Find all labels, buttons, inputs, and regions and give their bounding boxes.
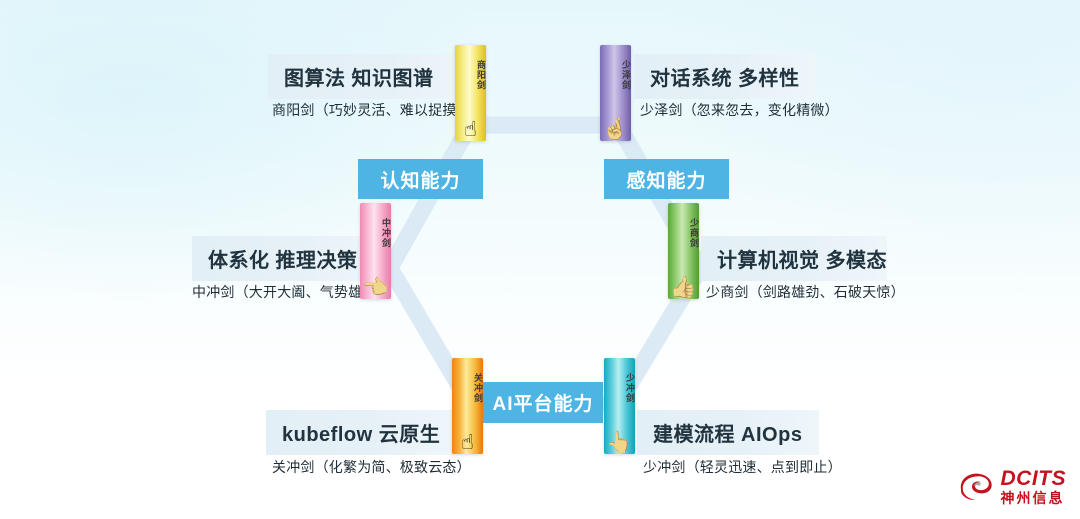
pointing-hand-icon: 👆 bbox=[606, 432, 632, 453]
plate-shaoshang: 计算机视觉 多模态 bbox=[701, 236, 887, 281]
pillar-label-shaoshang: 少商剑 bbox=[668, 210, 699, 256]
pillar-label-zhongchong: 中冲剑 bbox=[360, 210, 391, 256]
brand-logo: DCITS 神州信息 bbox=[955, 468, 1067, 505]
plate-title-shangyang: 图算法 知识图谱 bbox=[284, 62, 434, 91]
index-finger-hand-icon: ☝ bbox=[461, 432, 474, 453]
chip-perceptive[interactable]: 感知能力 bbox=[604, 159, 729, 199]
caption-guanchong: 关冲剑（化繁为简、极致云态） bbox=[272, 457, 471, 477]
chip-platform[interactable]: AI平台能力 bbox=[483, 382, 603, 423]
thumbs-up-hand-icon: 👍 bbox=[670, 277, 696, 298]
pillar-guanchong[interactable]: 关冲剑 ☝ bbox=[452, 358, 483, 454]
brand-name-cn: 神州信息 bbox=[1001, 491, 1067, 505]
plate-title-guanchong: kubeflow 云原生 bbox=[282, 418, 440, 447]
chip-cognitive[interactable]: 认知能力 bbox=[358, 159, 483, 199]
pillar-shaoze[interactable]: 少泽剑 🤞 bbox=[600, 45, 631, 141]
chip-label-perceptive: 感知能力 bbox=[626, 166, 706, 193]
diagram-canvas: 图算法 知识图谱 商阳剑（巧妙灵活、难以捉摸） 商阳剑 ☝ 少泽剑 🤞 对话系统… bbox=[0, 0, 1080, 519]
plate-title-zhongchong: 体系化 推理决策 bbox=[208, 244, 358, 273]
caption-shaochong: 少冲剑（轻灵迅速、点到即止） bbox=[643, 457, 842, 477]
plate-zhongchong: 体系化 推理决策 bbox=[192, 236, 388, 281]
hexagon-connector-ring bbox=[0, 0, 1080, 519]
plate-shaochong: 建模流程 AIOps bbox=[637, 410, 819, 455]
pillar-shaoshang[interactable]: 少商剑 👍 bbox=[668, 203, 699, 299]
middle-finger-hand-icon: 👈 bbox=[362, 277, 388, 298]
pillar-zhongchong[interactable]: 中冲剑 👈 bbox=[360, 203, 391, 299]
caption-shaoze: 少泽剑（忽来忽去，变化精微） bbox=[640, 100, 839, 120]
pinky-finger-hand-icon: 🤞 bbox=[602, 119, 628, 140]
brand-wordmark: DCITS 神州信息 bbox=[1001, 468, 1067, 505]
dcits-swirl-logo-icon bbox=[955, 470, 995, 504]
pillar-label-guanchong: 关冲剑 bbox=[452, 365, 483, 411]
pillar-label-shaoze: 少泽剑 bbox=[600, 52, 631, 98]
caption-shaoshang: 少商剑（剑路雄劲、石破天惊） bbox=[706, 282, 905, 302]
caption-shangyang: 商阳剑（巧妙灵活、难以捉摸） bbox=[272, 100, 471, 120]
pillar-label-shaochong: 少冲剑 bbox=[604, 365, 635, 411]
pointing-up-hand-icon: ☝ bbox=[464, 119, 477, 140]
plate-guanchong: kubeflow 云原生 bbox=[266, 410, 454, 455]
brand-name-en: DCITS bbox=[1001, 468, 1067, 489]
chip-label-platform: AI平台能力 bbox=[492, 389, 593, 416]
plate-title-shaoze: 对话系统 多样性 bbox=[650, 62, 800, 91]
pillar-shaochong[interactable]: 少冲剑 👆 bbox=[604, 358, 635, 454]
pillar-shangyang[interactable]: 商阳剑 ☝ bbox=[455, 45, 486, 141]
pillar-label-shangyang: 商阳剑 bbox=[455, 52, 486, 98]
plate-title-shaoshang: 计算机视觉 多模态 bbox=[717, 244, 887, 273]
chip-label-cognitive: 认知能力 bbox=[380, 166, 460, 193]
plate-shaoze: 对话系统 多样性 bbox=[634, 54, 816, 99]
plate-title-shaochong: 建模流程 AIOps bbox=[653, 418, 802, 447]
